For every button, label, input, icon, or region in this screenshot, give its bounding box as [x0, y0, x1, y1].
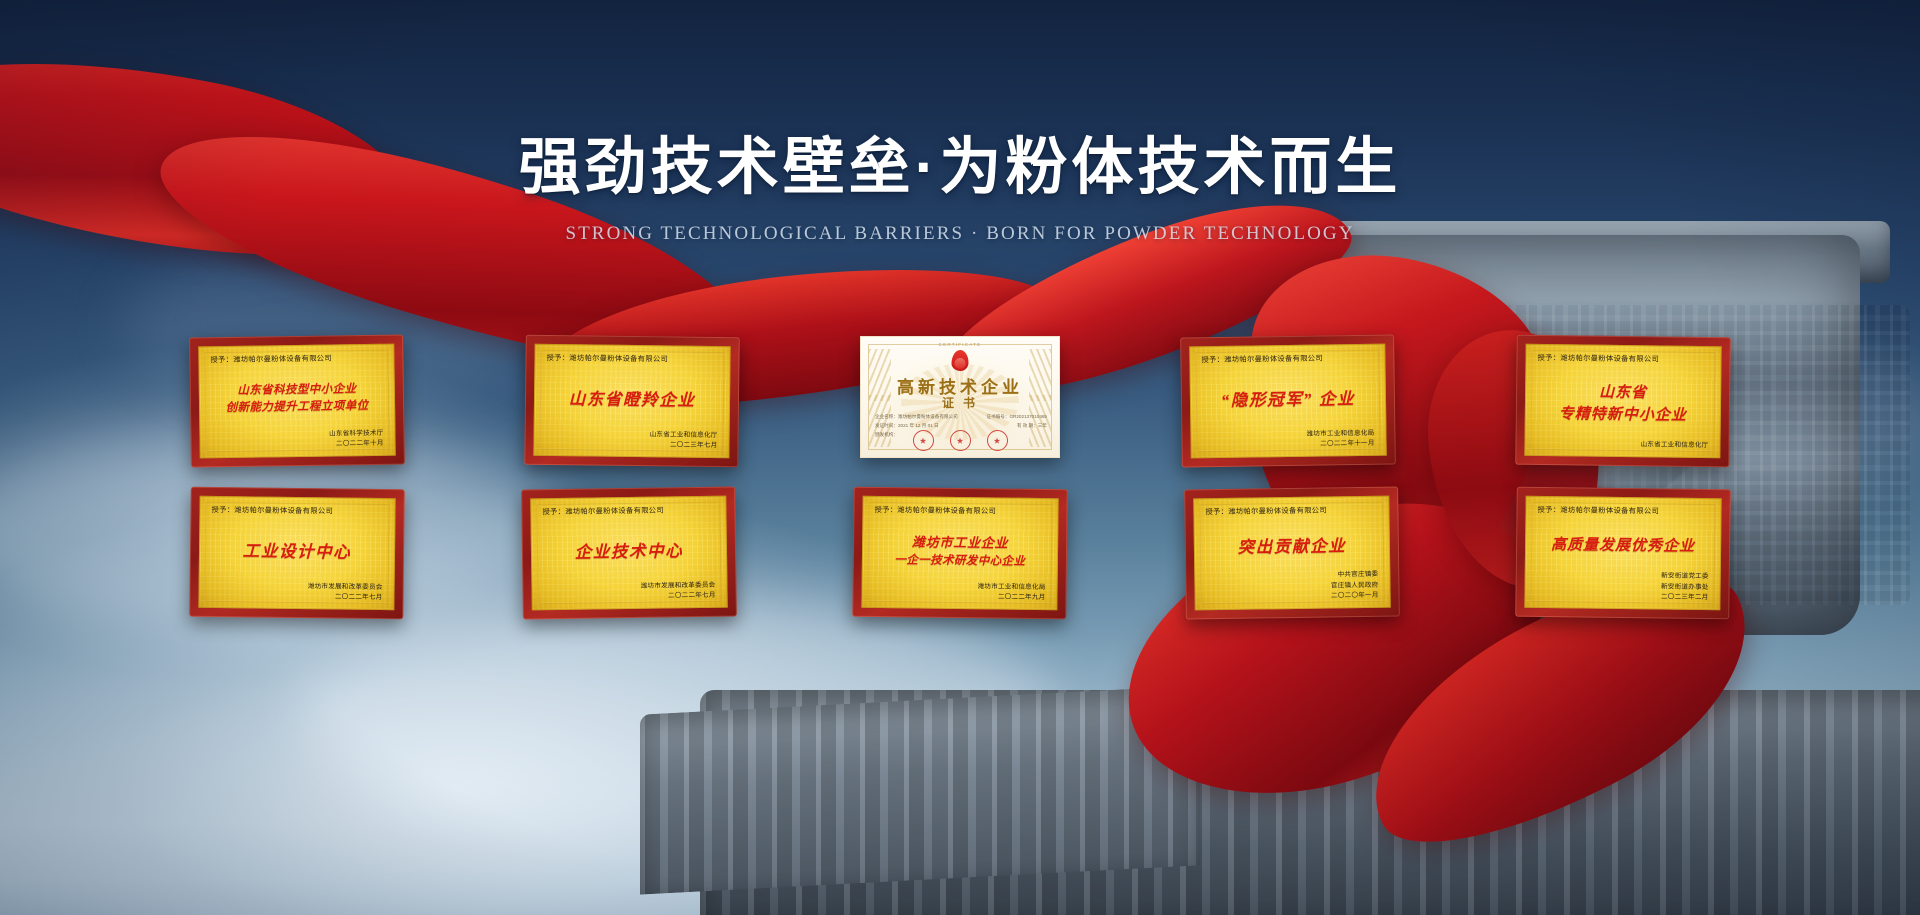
plaque-award-to: 授予：潍坊帕尔曼粉体设备有限公司: [1205, 505, 1377, 517]
plaque-face: 授予：潍坊帕尔曼粉体设备有限公司 “隐形冠军” 企业 潍坊市工业和信息化局 二〇…: [1189, 344, 1387, 459]
certificate-field-company: 企业名称：潍坊帕尔曼粉体设备有限公司: [875, 413, 958, 422]
plaque-footer: 山东省工业和信息化厅: [1536, 439, 1708, 451]
plaque-title-line: 企业技术中心: [574, 537, 683, 563]
plaque-footer: 山东省科学技术厅 二〇二二年十月: [211, 428, 383, 451]
plaque-face: 授予：潍坊帕尔曼粉体设备有限公司 山东省瞪羚企业 山东省工业和信息化厅 二〇二三…: [533, 344, 730, 458]
plaque-title-line: 山东省科技型中小企业: [237, 380, 356, 398]
certificate-subtitle: 证 书: [861, 394, 1059, 411]
certificate-field-number: 证书编号：GR202137010465: [986, 413, 1047, 422]
official-seal-icon: [987, 430, 1008, 451]
plaque-title: 潍坊市工业企业 一企一技术研发中心企业: [874, 517, 1047, 583]
plaque-date: 二〇二二年十月: [212, 439, 384, 452]
plaque-title-line: 创新能力提升工程立项单位: [226, 397, 369, 415]
plaque-award-to: 授予：潍坊帕尔曼粉体设备有限公司: [1201, 353, 1373, 365]
plaque-title: 工业设计中心: [211, 517, 384, 583]
page-title: 强劲技术壁垒·为粉体技术而生: [0, 132, 1920, 203]
plaque-title: 企业技术中心: [542, 517, 715, 583]
plaque-award-to: 授予：潍坊帕尔曼粉体设备有限公司: [1537, 505, 1709, 517]
plaque-date: 二〇二三年二月: [1536, 591, 1708, 603]
plaque-title-line: 工业设计中心: [243, 537, 352, 562]
plaque-title: 突出贡献企业: [1205, 517, 1378, 573]
plaque-award-to: 授予：潍坊帕尔曼粉体设备有限公司: [874, 505, 1046, 517]
plaque-footer: 山东省工业和信息化厅 二〇二三年七月: [545, 429, 717, 452]
plaque-date: 二〇二二年七月: [543, 591, 715, 604]
certificate-seals: [861, 430, 1059, 451]
plaque-title-line: “隐形冠军” 企业: [1221, 385, 1355, 411]
banner-stage: 强劲技术壁垒·为粉体技术而生 STRONG TECHNOLOGICAL BARR…: [0, 0, 1920, 915]
plaque-award-to: 授予：潍坊帕尔曼粉体设备有限公司: [210, 353, 382, 365]
awards-row-top: 授予：潍坊帕尔曼粉体设备有限公司 山东省科技型中小企业 创新能力提升工程立项单位…: [190, 336, 1730, 466]
plaque-title-line: 山东省瞪羚企业: [569, 385, 696, 411]
plaque-title: 山东省科技型中小企业 创新能力提升工程立项单位: [211, 365, 384, 431]
plaque-title-line: 高质量发展优秀企业: [1551, 533, 1695, 556]
headline-block: 强劲技术壁垒·为粉体技术而生 STRONG TECHNOLOGICAL BARR…: [0, 132, 1920, 245]
plaque-title: 山东省瞪羚企业: [546, 365, 719, 431]
plaque-footer: 潍坊市发展和改革委员会 二〇二二年七月: [543, 580, 715, 603]
official-seal-icon: [913, 430, 934, 451]
certificate-field-row: 企业名称：潍坊帕尔曼粉体设备有限公司 证书编号：GR202137010465: [875, 413, 1047, 422]
awards-gallery: 授予：潍坊帕尔曼粉体设备有限公司 山东省科技型中小企业 创新能力提升工程立项单位…: [0, 336, 1920, 618]
plaque-face: 授予：潍坊帕尔曼粉体设备有限公司 山东省 专精特新中小企业 山东省工业和信息化厅: [1524, 344, 1721, 458]
plaque-title-line: 专精特新中小企业: [1559, 403, 1687, 426]
award-plaque-zhuanjing-texin[interactable]: 授予：潍坊帕尔曼粉体设备有限公司 山东省 专精特新中小企业 山东省工业和信息化厅: [1515, 335, 1731, 468]
award-plaque-shandong-dengling[interactable]: 授予：潍坊帕尔曼粉体设备有限公司 山东省瞪羚企业 山东省工业和信息化厅 二〇二三…: [524, 335, 740, 468]
award-plaque-yiqi-yijishu-yanfa[interactable]: 授予：潍坊帕尔曼粉体设备有限公司 潍坊市工业企业 一企一技术研发中心企业 潍坊市…: [852, 487, 1068, 620]
award-plaque-gongye-sheji-zhongxin[interactable]: 授予：潍坊帕尔曼粉体设备有限公司 工业设计中心 潍坊市发展和改革委员会 二〇二二…: [189, 487, 405, 620]
plaque-title-line: 潍坊市工业企业: [912, 531, 1009, 551]
plaque-footer: 潍坊市工业和信息化局 二〇二二年十一月: [1202, 428, 1374, 451]
plaque-footer: 潍坊市发展和改革委员会 二〇二二年七月: [210, 581, 382, 604]
certificate-top-ornament-text: CERTIFICATE: [861, 342, 1059, 347]
awards-row-bottom: 授予：潍坊帕尔曼粉体设备有限公司 工业设计中心 潍坊市发展和改革委员会 二〇二二…: [190, 488, 1730, 618]
plaque-award-to: 授予：潍坊帕尔曼粉体设备有限公司: [542, 505, 714, 517]
plaque-award-to: 授予：潍坊帕尔曼粉体设备有限公司: [1537, 353, 1709, 365]
award-plaque-qiye-jishu-zhongxin[interactable]: 授予：潍坊帕尔曼粉体设备有限公司 企业技术中心 潍坊市发展和改革委员会 二〇二二…: [521, 487, 737, 620]
plaque-date: 二〇二二年九月: [873, 591, 1045, 603]
plaque-face: 授予：潍坊帕尔曼粉体设备有限公司 高质量发展优秀企业 新安街道党工委 新安街道办…: [1524, 496, 1721, 610]
plaque-award-to: 授予：潍坊帕尔曼粉体设备有限公司: [546, 353, 718, 365]
award-certificate-gaoxin-jishu-qiye[interactable]: CERTIFICATE 高新技术企业 证 书 企业名称：潍坊帕尔曼粉体设备有限公…: [860, 336, 1060, 458]
plaque-award-to: 授予：潍坊帕尔曼粉体设备有限公司: [211, 505, 383, 517]
plaque-face: 授予：潍坊帕尔曼粉体设备有限公司 突出贡献企业 中共官庄镇委 官庄镇人民政府 二…: [1193, 496, 1391, 611]
award-plaque-tuchu-gongxian[interactable]: 授予：潍坊帕尔曼粉体设备有限公司 突出贡献企业 中共官庄镇委 官庄镇人民政府 二…: [1184, 487, 1400, 620]
plaque-title-line: 一企一技术研发中心企业: [894, 551, 1025, 569]
plaque-title: 高质量发展优秀企业: [1537, 517, 1710, 572]
plaque-title: “隐形冠军” 企业: [1202, 365, 1375, 431]
flame-emblem-icon: [952, 350, 969, 371]
award-plaque-kejixing-zhongxiao[interactable]: 授予：潍坊帕尔曼粉体设备有限公司 山东省科技型中小企业 创新能力提升工程立项单位…: [189, 335, 405, 468]
plaque-face: 授予：潍坊帕尔曼粉体设备有限公司 山东省科技型中小企业 创新能力提升工程立项单位…: [198, 344, 396, 459]
plaque-title-line: 山东省: [1599, 381, 1647, 403]
plaque-footer: 潍坊市工业和信息化局 二〇二二年九月: [873, 581, 1045, 604]
plaque-date: 二〇二二年十一月: [1203, 439, 1375, 452]
plaque-date: 二〇二三年七月: [545, 439, 717, 451]
plaque-footer: 中共官庄镇委 官庄镇人民政府 二〇二〇年一月: [1206, 570, 1378, 603]
award-plaque-gaozhiliang-fazhan[interactable]: 授予：潍坊帕尔曼粉体设备有限公司 高质量发展优秀企业 新安街道党工委 新安街道办…: [1515, 487, 1731, 620]
plaque-date: 二〇二二年七月: [210, 591, 382, 603]
plaque-date: 二〇二〇年一月: [1206, 591, 1378, 604]
plaque-face: 授予：潍坊帕尔曼粉体设备有限公司 工业设计中心 潍坊市发展和改革委员会 二〇二二…: [198, 496, 395, 610]
plaque-face: 授予：潍坊帕尔曼粉体设备有限公司 企业技术中心 潍坊市发展和改革委员会 二〇二二…: [530, 496, 728, 611]
plaque-issuer: 山东省工业和信息化厅: [1536, 439, 1708, 451]
official-seal-icon: [950, 430, 971, 451]
plaque-title-line: 突出贡献企业: [1237, 532, 1346, 558]
plaque-footer: 新安街道党工委 新安街道办事处 二〇二三年二月: [1536, 570, 1708, 603]
ding-pedestal-left: [640, 685, 1200, 894]
plaque-title: 山东省 专精特新中小企业: [1537, 365, 1710, 441]
award-plaque-yinxing-guanjun[interactable]: 授予：潍坊帕尔曼粉体设备有限公司 “隐形冠军” 企业 潍坊市工业和信息化局 二〇…: [1180, 335, 1396, 468]
page-subtitle: STRONG TECHNOLOGICAL BARRIERS · BORN FOR…: [0, 223, 1920, 245]
plaque-face: 授予：潍坊帕尔曼粉体设备有限公司 潍坊市工业企业 一企一技术研发中心企业 潍坊市…: [861, 496, 1058, 610]
